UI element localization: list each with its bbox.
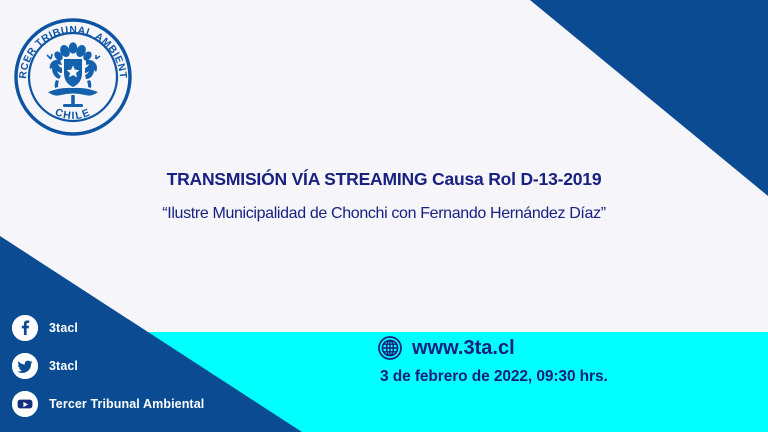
- social-item-facebook[interactable]: 3tacl: [12, 310, 302, 346]
- social-links-list: 3tacl 3tacl Tercer Tribunal Ambiental: [12, 310, 302, 424]
- event-datetime: 3 de febrero de 2022, 09:30 hrs.: [380, 368, 708, 386]
- website-row[interactable]: www.3ta.cl: [378, 336, 708, 360]
- globe-icon: [378, 336, 402, 360]
- facebook-icon[interactable]: [12, 315, 38, 341]
- social-label-twitter: 3tacl: [49, 359, 78, 373]
- twitter-icon[interactable]: [12, 353, 38, 379]
- social-item-youtube[interactable]: Tercer Tribunal Ambiental: [12, 386, 302, 422]
- youtube-icon[interactable]: [12, 391, 38, 417]
- tribunal-seal-logo: TERCER TRIBUNAL AMBIENTAL CHILE: [8, 12, 138, 142]
- social-label-youtube: Tercer Tribunal Ambiental: [49, 397, 204, 411]
- web-info-block: www.3ta.cl 3 de febrero de 2022, 09:30 h…: [378, 336, 708, 386]
- streaming-announcement-slide: TERCER TRIBUNAL AMBIENTAL CHILE: [0, 0, 768, 432]
- social-label-facebook: 3tacl: [49, 321, 78, 335]
- social-item-twitter[interactable]: 3tacl: [12, 348, 302, 384]
- chile-coat-of-arms-icon: [47, 42, 100, 107]
- website-url[interactable]: www.3ta.cl: [412, 337, 515, 360]
